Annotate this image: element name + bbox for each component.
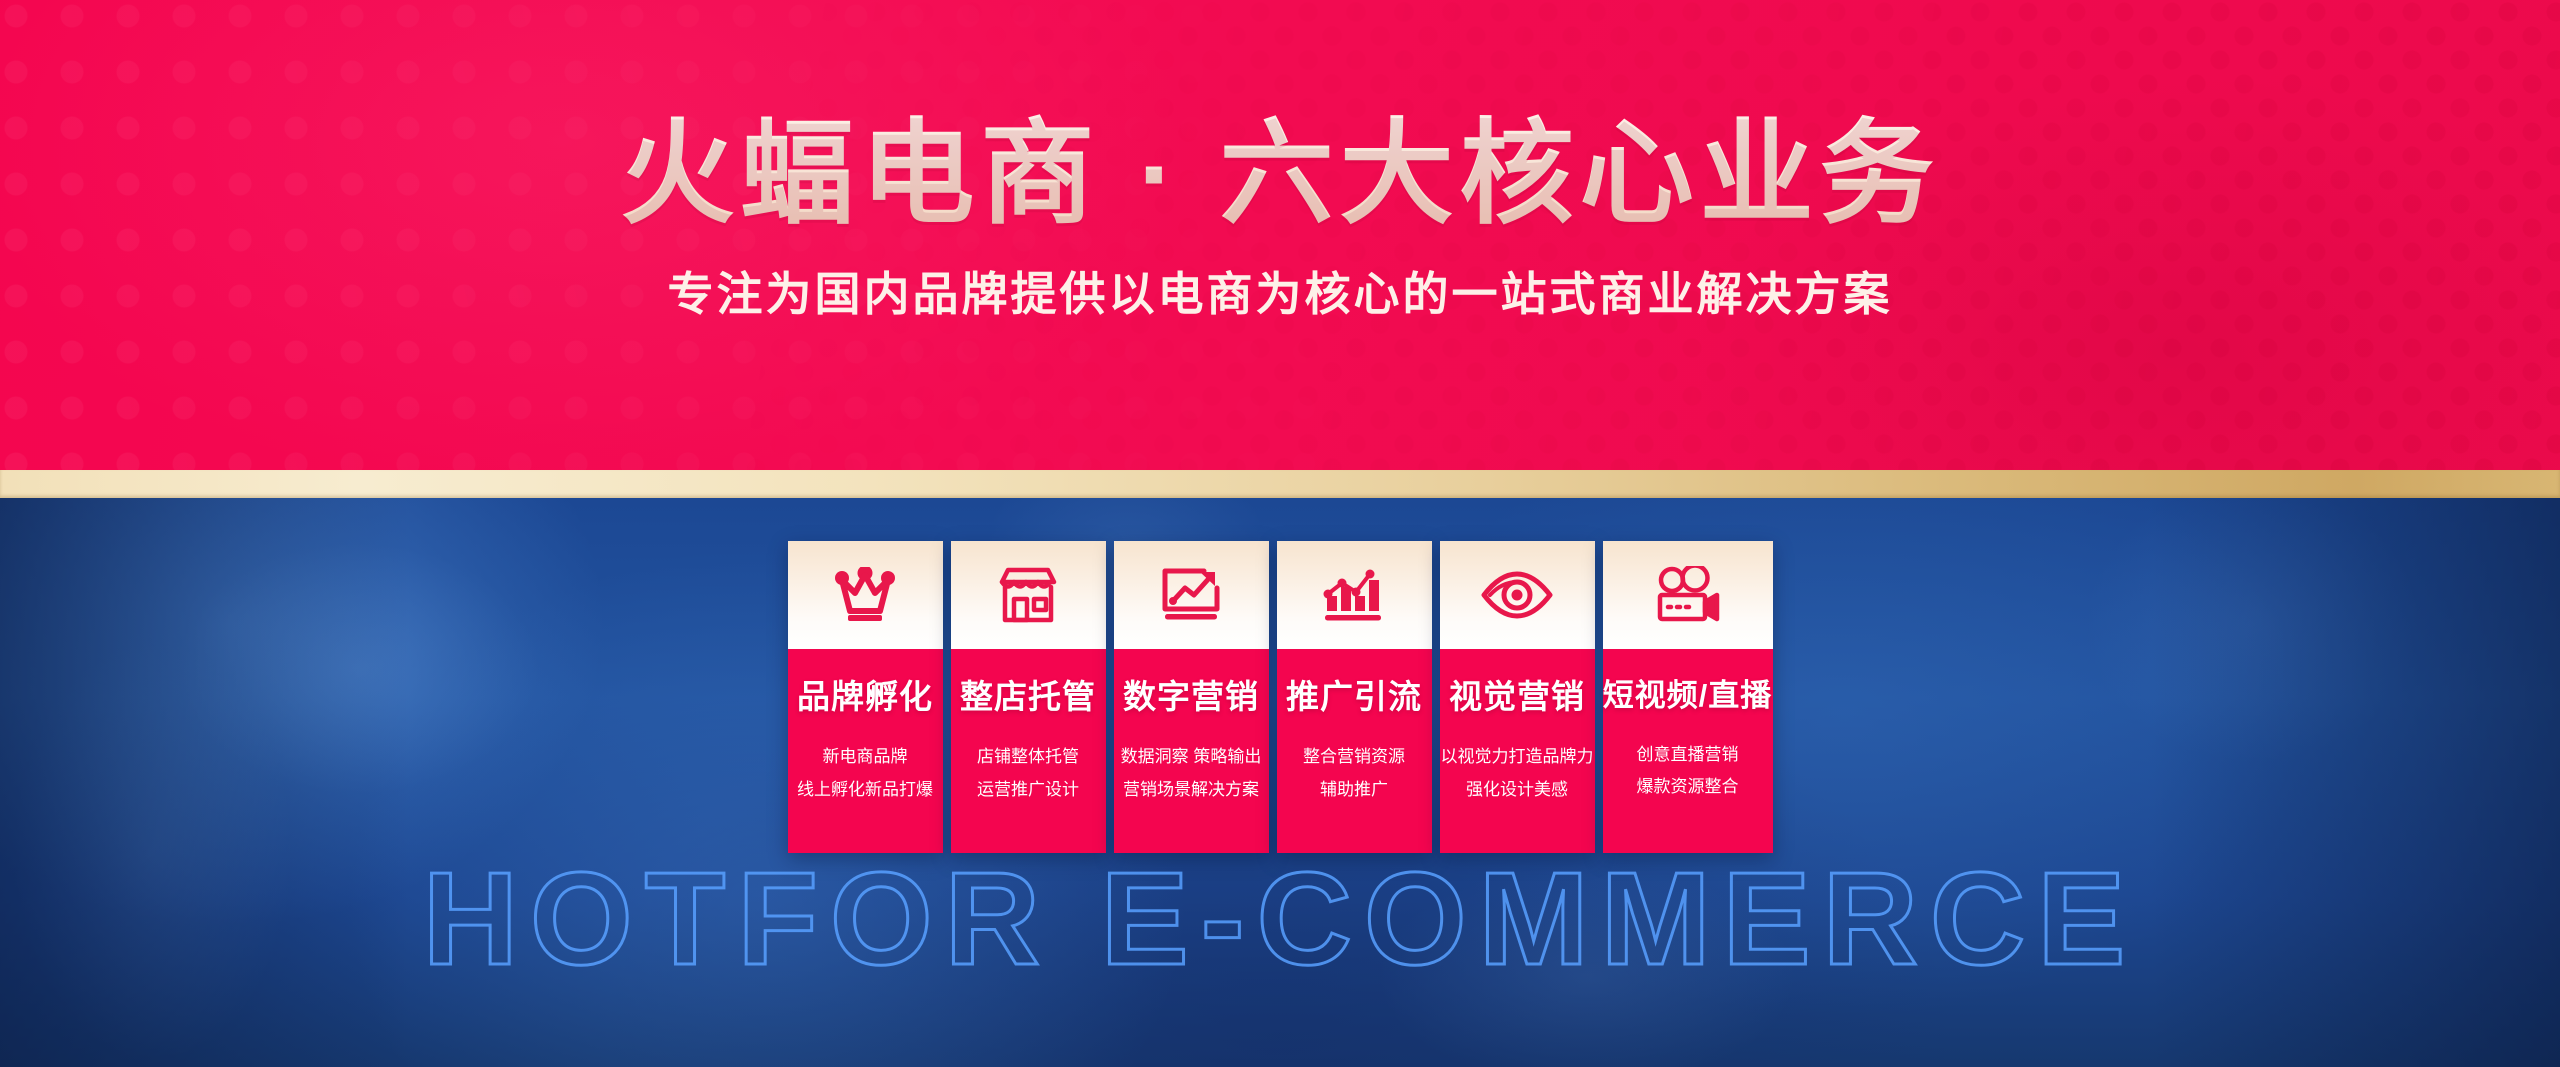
page-title: 火蝠电商 · 六大核心业务 [0, 0, 2560, 232]
card-title: 数字营销 [1123, 679, 1259, 715]
bar-chart-icon [1323, 566, 1385, 624]
card-text-area: 数字营销 数据洞察 策略输出 营销场景解决方案 [1114, 649, 1269, 853]
card-desc-line1: 店铺整体托管 [977, 741, 1079, 773]
crown-icon [834, 567, 896, 623]
service-card-short-video-livestream[interactable]: 短视频/直播 创意直播营销 爆款资源整合 [1603, 541, 1773, 853]
card-description: 店铺整体托管 运营推广设计 [977, 741, 1079, 806]
page-subtitle: 专注为国内品牌提供以电商为核心的一站式商业解决方案 [0, 232, 2560, 324]
card-title: 短视频/直播 [1603, 679, 1773, 713]
card-icon-area [1440, 541, 1595, 649]
storefront-icon [998, 566, 1058, 624]
card-text-area: 推广引流 整合营销资源 辅助推广 [1277, 649, 1432, 853]
card-icon-area [1114, 541, 1269, 649]
card-text-area: 短视频/直播 创意直播营销 爆款资源整合 [1603, 649, 1773, 853]
trend-chart-icon [1160, 566, 1222, 624]
card-desc-line2: 营销场景解决方案 [1121, 774, 1262, 806]
card-title: 视觉营销 [1449, 679, 1585, 715]
card-desc-line1: 数据洞察 策略输出 [1121, 741, 1262, 773]
service-card-list: 品牌孵化 新电商品牌 线上孵化新品打爆 [0, 498, 2560, 853]
brand-wordmark: HOTFOR E-COMMERCE [0, 853, 2560, 985]
service-card-visual-marketing[interactable]: 视觉营销 以视觉力打造品牌力 强化设计美感 [1440, 541, 1595, 853]
card-description: 以视觉力打造品牌力 强化设计美感 [1441, 741, 1594, 806]
card-title: 品牌孵化 [797, 679, 933, 715]
card-description: 创意直播营销 爆款资源整合 [1637, 739, 1739, 804]
hero-section: 火蝠电商 · 六大核心业务 专注为国内品牌提供以电商为核心的一站式商业解决方案 [0, 0, 2560, 470]
card-desc-line2: 爆款资源整合 [1637, 771, 1739, 803]
card-text-area: 视觉营销 以视觉力打造品牌力 强化设计美感 [1440, 649, 1595, 853]
service-card-store-management[interactable]: 整店托管 店铺整体托管 运营推广设计 [951, 541, 1106, 853]
hero-text-block: 火蝠电商 · 六大核心业务 专注为国内品牌提供以电商为核心的一站式商业解决方案 [0, 0, 2560, 324]
card-desc-line2: 运营推广设计 [977, 774, 1079, 806]
card-icon-area [788, 541, 943, 649]
card-text-area: 品牌孵化 新电商品牌 线上孵化新品打爆 [788, 649, 943, 853]
card-title: 整店托管 [960, 679, 1096, 715]
service-card-brand-incubation[interactable]: 品牌孵化 新电商品牌 线上孵化新品打爆 [788, 541, 943, 853]
video-camera-icon [1655, 566, 1721, 624]
card-icon-area [1277, 541, 1432, 649]
card-desc-line1: 创意直播营销 [1637, 739, 1739, 771]
service-card-digital-marketing[interactable]: 数字营销 数据洞察 策略输出 营销场景解决方案 [1114, 541, 1269, 853]
gold-divider [0, 470, 2560, 498]
card-desc-line1: 以视觉力打造品牌力 [1441, 741, 1594, 773]
service-card-traffic-promotion[interactable]: 推广引流 整合营销资源 辅助推广 [1277, 541, 1432, 853]
card-desc-line2: 辅助推广 [1303, 774, 1405, 806]
card-icon-area [1603, 541, 1773, 649]
card-desc-line2: 线上孵化新品打爆 [797, 774, 933, 806]
card-icon-area [951, 541, 1106, 649]
card-title: 推广引流 [1286, 679, 1422, 715]
card-desc-line1: 新电商品牌 [797, 741, 933, 773]
card-description: 整合营销资源 辅助推广 [1303, 741, 1405, 806]
eye-icon [1480, 571, 1554, 619]
card-desc-line1: 整合营销资源 [1303, 741, 1405, 773]
services-section: 品牌孵化 新电商品牌 线上孵化新品打爆 [0, 498, 2560, 1067]
card-text-area: 整店托管 店铺整体托管 运营推广设计 [951, 649, 1106, 853]
promo-banner: 火蝠电商 · 六大核心业务 专注为国内品牌提供以电商为核心的一站式商业解决方案 [0, 0, 2560, 1067]
card-desc-line2: 强化设计美感 [1441, 774, 1594, 806]
card-description: 数据洞察 策略输出 营销场景解决方案 [1121, 741, 1262, 806]
card-description: 新电商品牌 线上孵化新品打爆 [797, 741, 933, 806]
